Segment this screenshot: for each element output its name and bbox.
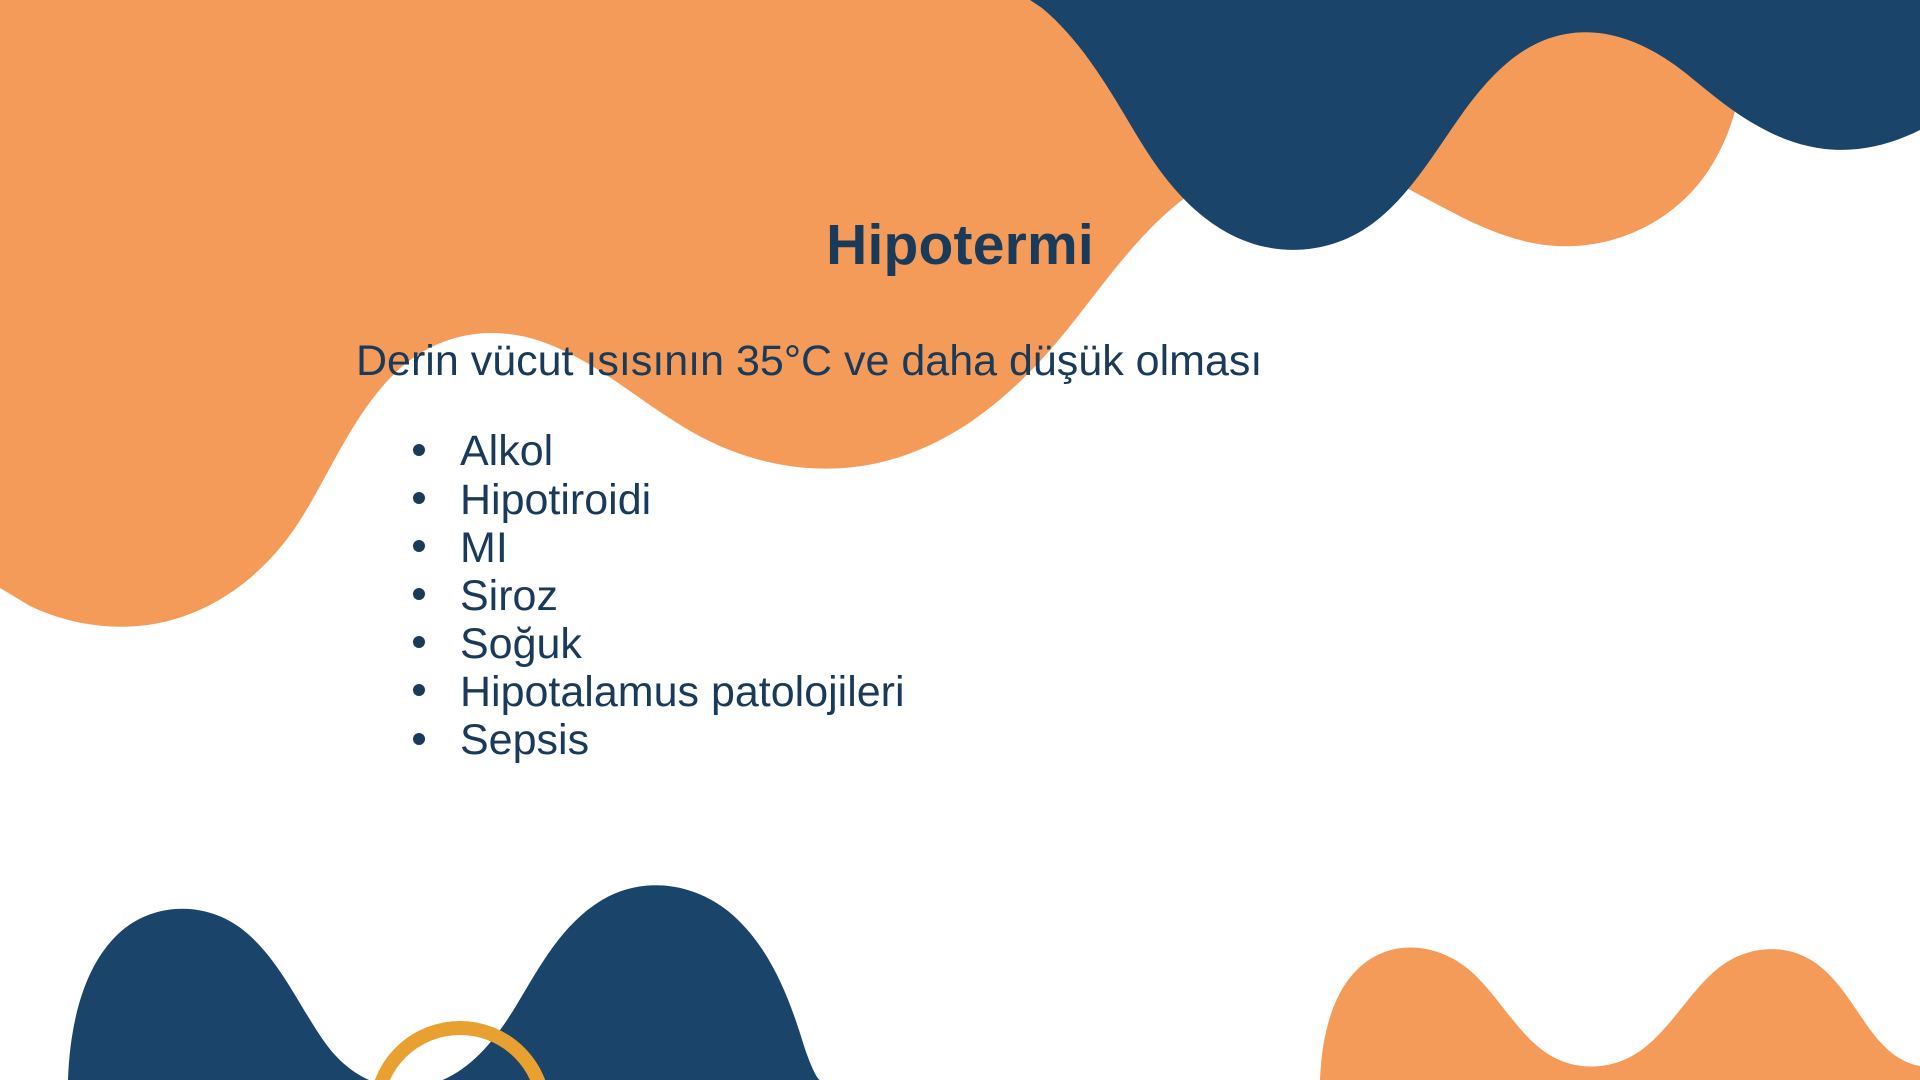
bullet-dot-icon	[413, 444, 425, 456]
bullet-dot-icon	[413, 636, 425, 648]
bullet-dot-icon	[413, 588, 425, 600]
list-item: Hipotalamus patolojileri	[356, 668, 1656, 716]
list-item-label: Hipotalamus patolojileri	[460, 668, 905, 716]
list-item-label: Hipotiroidi	[460, 476, 651, 524]
list-item: Soğuk	[356, 620, 1656, 668]
bullet-dot-icon	[413, 540, 425, 552]
presentation-slide: Hipotermi Derin vücut ısısının 35°C ve d…	[0, 0, 1920, 1080]
slide-content: Hipotermi Derin vücut ısısının 35°C ve d…	[0, 0, 1920, 1080]
list-item: MI	[356, 524, 1656, 572]
slide-body: Derin vücut ısısının 35°C ve daha düşük …	[356, 295, 1656, 765]
list-item: Siroz	[356, 572, 1656, 620]
list-item: Hipotiroidi	[356, 476, 1656, 524]
bullet-dot-icon	[413, 684, 425, 696]
bullet-dot-icon	[413, 492, 425, 504]
list-item-label: Siroz	[460, 572, 558, 620]
slide-title: Hipotermi	[0, 214, 1920, 277]
list-item-label: MI	[460, 524, 508, 572]
list-item: Sepsis	[356, 716, 1656, 764]
list-item-label: Sepsis	[460, 716, 589, 764]
list-item: Alkol	[356, 427, 1656, 475]
bullet-dot-icon	[413, 733, 425, 745]
list-item-label: Alkol	[460, 427, 553, 475]
definition-line: Derin vücut ısısının 35°C ve daha düşük …	[356, 338, 1656, 384]
causes-bullet-list: Alkol Hipotiroidi MI Siroz Soğuk	[356, 427, 1656, 764]
list-item-label: Soğuk	[460, 620, 582, 668]
